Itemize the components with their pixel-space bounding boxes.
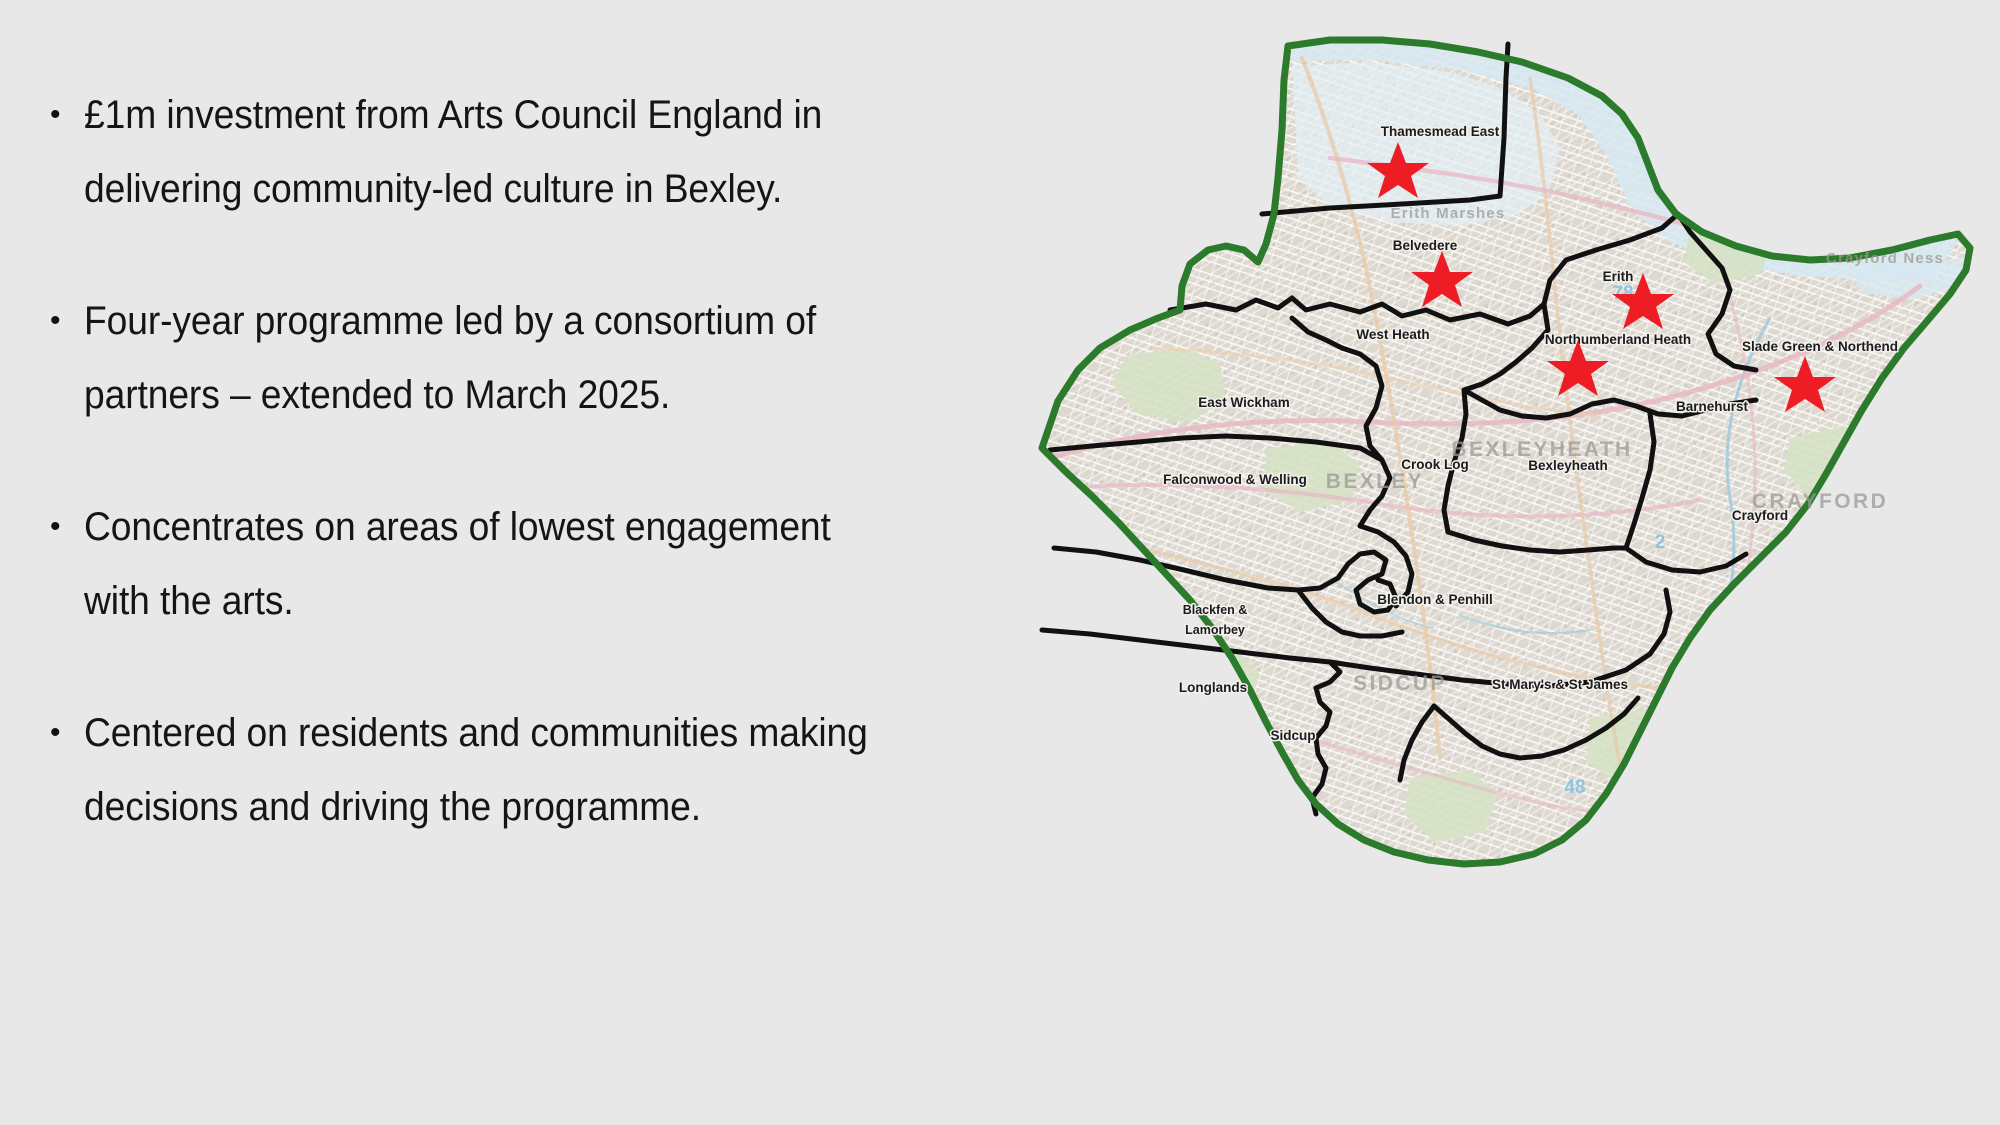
map-svg: BEXLEYHEATH CRAYFORD SIDCUP BEXLEY Crayf… <box>1030 18 1980 1108</box>
bullet-marker-icon: • <box>42 78 84 152</box>
bullet-text: £1m investment from Arts Council England… <box>84 78 882 226</box>
bullet-text: Centered on residents and communities ma… <box>84 696 882 844</box>
map-basemap <box>1030 18 1980 1108</box>
bullet-marker-icon: • <box>42 696 84 770</box>
list-item: • £1m investment from Arts Council Engla… <box>42 78 942 226</box>
bullet-marker-icon: • <box>42 284 84 358</box>
list-item: • Concentrates on areas of lowest engage… <box>42 490 942 638</box>
bullet-text: Four-year programme led by a consortium … <box>84 284 882 432</box>
bullet-marker-icon: • <box>42 490 84 564</box>
list-item: • Centered on residents and communities … <box>42 696 942 844</box>
bexley-ward-map: BEXLEYHEATH CRAYFORD SIDCUP BEXLEY Crayf… <box>1030 18 1980 1108</box>
ward-label-longlands: Longlands <box>1179 680 1247 695</box>
slide-canvas: • £1m investment from Arts Council Engla… <box>0 0 2000 1125</box>
bullet-list: • £1m investment from Arts Council Engla… <box>42 78 942 902</box>
bullet-text: Concentrates on areas of lowest engageme… <box>84 490 882 638</box>
list-item: • Four-year programme led by a consortiu… <box>42 284 942 432</box>
